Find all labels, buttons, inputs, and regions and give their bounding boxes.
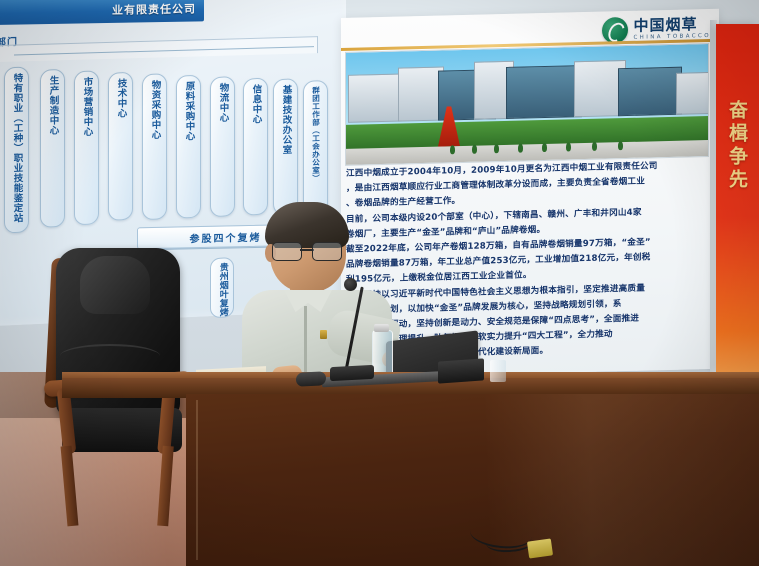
- tree: [450, 145, 455, 154]
- tree: [618, 141, 623, 150]
- building: [506, 65, 582, 119]
- banner-text: 奋楫争先: [724, 100, 751, 192]
- glasses-lens: [312, 242, 342, 261]
- executive-chair: [42, 248, 202, 478]
- campus-photo: [345, 43, 709, 166]
- yellow-floor-object: [527, 538, 553, 558]
- dept-pill: 物流中心: [210, 76, 235, 217]
- dept-pill: 市场营销中心: [74, 70, 99, 225]
- logo-chinese-name: 中国烟草: [633, 17, 711, 34]
- dept-label: 特有职业（工种）职业技能鉴定站: [12, 73, 22, 223]
- dept-pill: 技术中心: [108, 72, 133, 221]
- building: [348, 74, 402, 123]
- tree: [566, 142, 571, 151]
- chair-seam: [60, 344, 160, 368]
- subsidiary-pill: 贵州烟叶复烤: [210, 257, 234, 318]
- tree: [518, 144, 523, 153]
- tree: [494, 144, 499, 153]
- dept-label: 基建技改办公室: [281, 85, 291, 155]
- profile-body-text: 江西中烟成立于2004年10月，2009年10月更名为江西中烟工业有限责任公司 …: [346, 159, 706, 365]
- lapel-badge: [320, 330, 327, 339]
- org-chart-header-title: 业有限责任公司: [112, 0, 196, 17]
- computer-mouse[interactable]: [296, 371, 326, 387]
- china-tobacco-leaf-icon: [602, 17, 628, 44]
- desk-front-panel: [186, 394, 759, 566]
- chair-headrest: [80, 256, 150, 314]
- microphone-head-icon: [344, 278, 357, 291]
- dept-pill: 生产制造中心: [40, 69, 65, 228]
- desk-panel-seam: [196, 400, 198, 560]
- dept-pill: 信息中心: [243, 78, 268, 216]
- red-banner: 奋楫争先: [716, 24, 759, 374]
- water-bottle-cap: [374, 324, 389, 332]
- dept-pill: 原料采购中心: [176, 75, 201, 219]
- screenshot-root: 业有限责任公司 部门 特有职业（工种）职业技能鉴定站 生产制造中心 市场营销中心…: [0, 0, 759, 566]
- subsidiary-label: 贵州烟叶复烤: [217, 262, 226, 316]
- glasses-icon: [270, 242, 344, 260]
- dept-label: 物流中心: [218, 82, 228, 122]
- building: [676, 72, 709, 115]
- dept-label: 信息中心: [251, 84, 261, 124]
- dept-label: 群团工作部（工会办公室）: [312, 86, 320, 182]
- dept-label: 技术中心: [116, 78, 126, 118]
- dept-label: 生产制造中心: [48, 75, 58, 135]
- dept-label: 市场营销中心: [82, 77, 92, 137]
- dept-pill: 基建技改办公室: [273, 78, 298, 215]
- dept-pill: 物资采购中心: [142, 73, 167, 220]
- desk-equipment-box: [438, 358, 484, 383]
- tree: [542, 143, 547, 152]
- drinking-glass: [490, 360, 506, 382]
- logo-text: 中国烟草 CHINA TOBACCO: [633, 17, 711, 41]
- dept-label: 物资采购中心: [150, 79, 160, 139]
- org-chart-header: 业有限责任公司: [0, 0, 204, 25]
- dept-pill: 特有职业（工种）职业技能鉴定站: [4, 66, 29, 233]
- tree: [592, 142, 597, 151]
- glasses-lens: [272, 242, 302, 261]
- dept-pill: 群团工作部（工会办公室）: [303, 80, 328, 215]
- tree: [472, 145, 477, 154]
- dept-label: 原料采购中心: [184, 81, 194, 141]
- microphone-base: [330, 365, 374, 381]
- building: [618, 67, 682, 117]
